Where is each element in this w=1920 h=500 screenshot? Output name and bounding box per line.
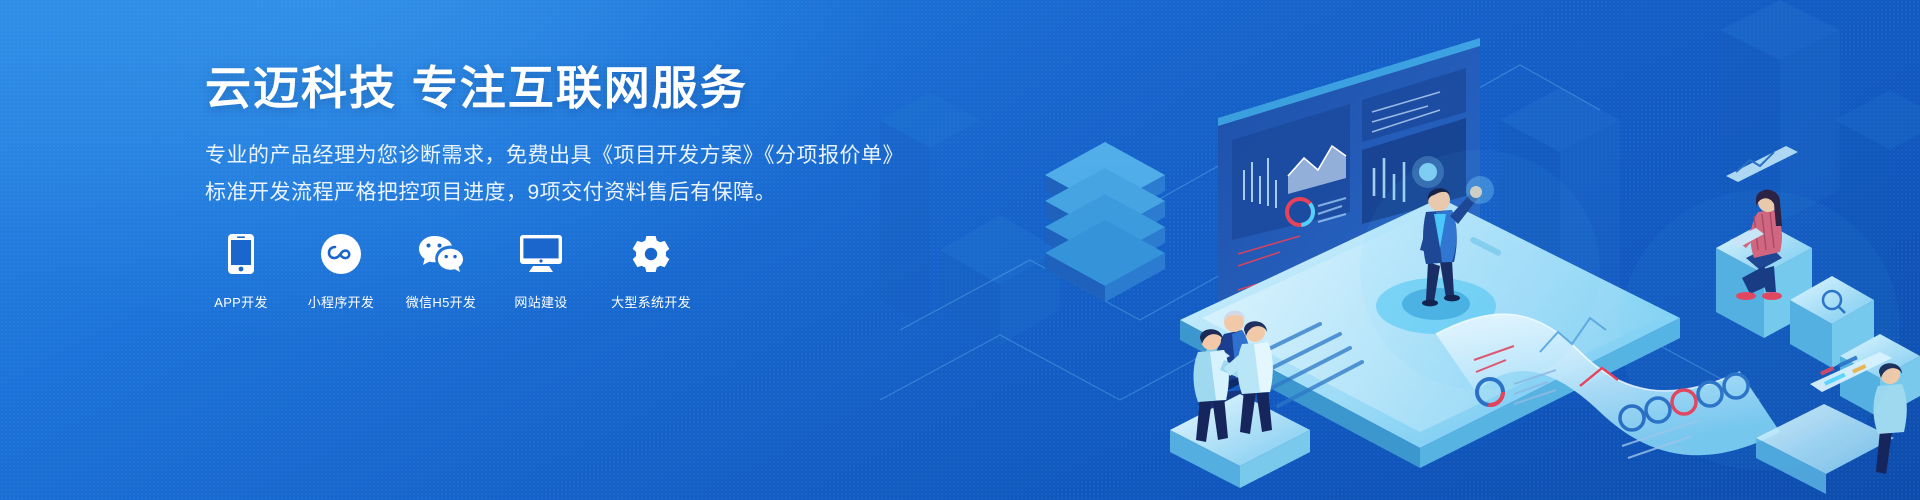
hero-banner: 云迈科技 专注互联网服务 专业的产品经理为您诊断需求，免费出具《项目开发方案》《… [0, 0, 1920, 500]
service-item-miniprogram[interactable]: 小程序开发 [305, 232, 377, 311]
hero-subtitle: 专业的产品经理为您诊断需求，免费出具《项目开发方案》《分项报价单》 标准开发流程… [205, 137, 905, 212]
monitor-icon [520, 232, 562, 276]
wechat-icon [418, 232, 464, 276]
mobile-phone-icon [228, 232, 254, 276]
subtitle-line-1: 专业的产品经理为您诊断需求，免费出具《项目开发方案》《分项报价单》 [205, 137, 905, 174]
service-label: APP开发 [214, 292, 268, 311]
service-label: 小程序开发 [308, 292, 375, 311]
service-item-app[interactable]: APP开发 [205, 232, 277, 311]
service-item-website[interactable]: 网站建设 [505, 232, 577, 311]
service-label: 微信H5开发 [406, 292, 476, 311]
service-label: 大型系统开发 [611, 292, 691, 311]
service-list: APP开发 小程序开发 微信 [205, 232, 697, 311]
service-label: 网站建设 [514, 292, 567, 311]
gear-icon [631, 232, 671, 276]
service-item-large-system[interactable]: 大型系统开发 [605, 232, 697, 311]
hero-illustration [880, 0, 1920, 500]
subtitle-line-2: 标准开发流程严格把控项目进度，9项交付资料售后有保障。 [205, 174, 905, 211]
server-stack [1045, 142, 1165, 302]
hero-copy: 云迈科技 专注互联网服务 专业的产品经理为您诊断需求，免费出具《项目开发方案》《… [205, 62, 905, 212]
mini-program-icon [321, 232, 361, 276]
service-item-wechat-h5[interactable]: 微信H5开发 [405, 232, 477, 311]
page-title: 云迈科技 专注互联网服务 [205, 62, 905, 115]
